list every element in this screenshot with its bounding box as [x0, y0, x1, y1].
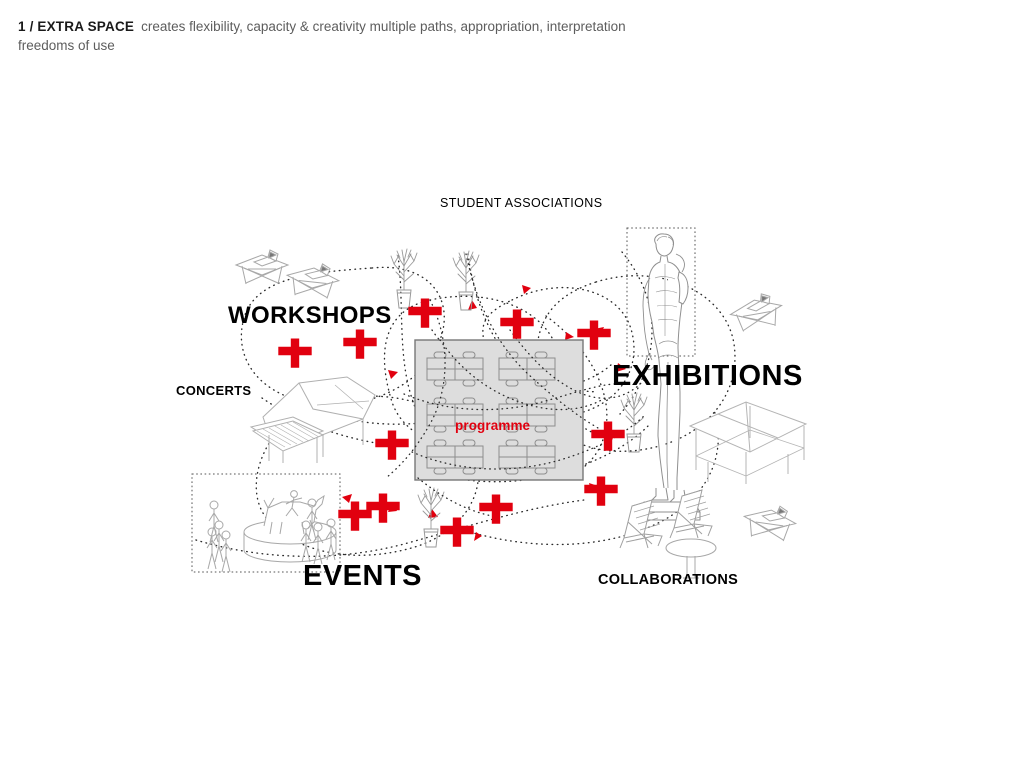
ping-pong-table-icon	[690, 402, 806, 484]
label-exhibitions: EXHIBITIONS	[612, 360, 803, 393]
potted-tree-icon	[391, 249, 417, 308]
folding-table-laptop-icon	[285, 260, 340, 299]
potted-tree-icon	[621, 393, 647, 452]
label-concerts: CONCERTS	[176, 383, 251, 398]
folding-table-laptop-icon	[742, 502, 798, 543]
label-collaborations: COLLABORATIONS	[598, 572, 738, 588]
folding-table-laptop-icon	[236, 250, 288, 284]
grand-piano-icon	[251, 377, 375, 463]
potted-tree-icon	[453, 251, 479, 310]
label-student-associations: STUDENT ASSOCIATIONS	[440, 196, 602, 210]
label-events: EVENTS	[303, 560, 422, 593]
folding-table-laptop-icon	[728, 291, 785, 334]
potted-tree-icon	[418, 488, 444, 547]
programme-label: programme	[455, 418, 530, 433]
label-workshops: WORKSHOPS	[228, 302, 392, 330]
diagram-stage: 1 / EXTRA SPACEcreates flexibility, capa…	[0, 0, 1024, 769]
diagram-canvas	[0, 0, 1024, 769]
programme-block[interactable]	[415, 340, 583, 480]
